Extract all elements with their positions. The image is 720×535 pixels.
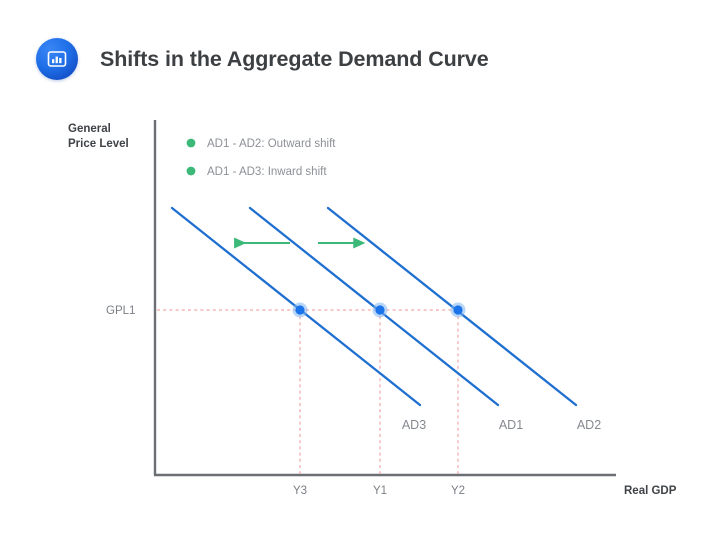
- equilibrium-point-y3: [293, 303, 308, 318]
- equilibrium-point-y1: [373, 303, 388, 318]
- x-axis-label: Real GDP: [624, 485, 677, 497]
- legend-label-outward-shift: AD1 - AD2: Outward shift: [207, 138, 336, 150]
- legend-dot-icon: [187, 167, 196, 176]
- legend-dot-icon: [187, 139, 196, 148]
- x-tick-label-y2: Y2: [451, 485, 465, 497]
- equilibrium-point-y2: [451, 303, 466, 318]
- legend-label-inward-shift: AD1 - AD3: Inward shift: [207, 166, 327, 178]
- y-axis-label: General Price Level: [68, 123, 129, 150]
- curve-label-ad2: AD2: [577, 418, 601, 432]
- y-axis-label-line-2: Price Level: [68, 138, 129, 150]
- x-tick-label-y3: Y3: [293, 485, 307, 497]
- y-axis-label-line-1: General: [68, 123, 111, 135]
- curve-label-ad1: AD1: [499, 418, 523, 432]
- legend-item-outward-shift: AD1 - AD2: Outward shift: [187, 138, 337, 150]
- aggregate-demand-chart: General Price Level Real GDP GPL1: [0, 0, 720, 535]
- legend: AD1 - AD2: Outward shift AD1 - AD3: Inwa…: [187, 138, 337, 178]
- legend-item-inward-shift: AD1 - AD3: Inward shift: [187, 166, 328, 178]
- curve-label-ad3: AD3: [402, 418, 426, 432]
- y-tick-label-gpl1: GPL1: [106, 305, 135, 317]
- x-tick-label-y1: Y1: [373, 485, 387, 497]
